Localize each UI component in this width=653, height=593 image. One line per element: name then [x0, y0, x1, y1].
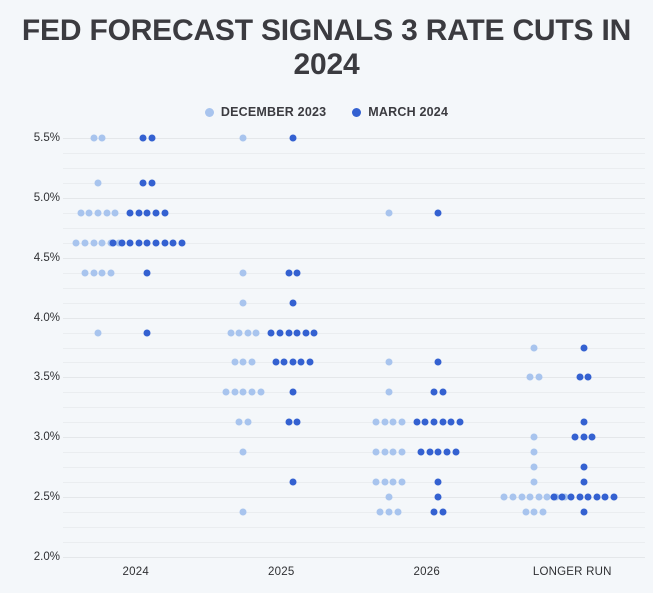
- x-axis-tick-label: 2024: [123, 566, 149, 578]
- data-point-dot: [390, 479, 397, 486]
- data-point-dot: [501, 494, 508, 501]
- x-axis-tick-label: LONGER RUN: [533, 566, 612, 578]
- y-axis-tick-label: 2.5%: [8, 491, 60, 503]
- data-point-dot: [236, 419, 243, 426]
- gridline-minor: [63, 303, 645, 304]
- data-point-dot: [509, 494, 516, 501]
- data-point-dot: [585, 494, 592, 501]
- data-point-dot: [140, 179, 147, 186]
- data-point-dot: [307, 359, 314, 366]
- gridline-major: [63, 198, 645, 199]
- data-point-dot: [580, 464, 587, 471]
- data-point-dot: [90, 135, 97, 142]
- gridline-major: [63, 318, 645, 319]
- data-point-dot: [152, 209, 159, 216]
- data-point-dot: [223, 389, 230, 396]
- data-point-dot: [435, 359, 442, 366]
- data-point-dot: [236, 329, 243, 336]
- y-axis-tick-label: 4.0%: [8, 312, 60, 324]
- data-point-dot: [144, 269, 151, 276]
- data-point-dot: [144, 239, 151, 246]
- gridline-minor: [63, 168, 645, 169]
- data-point-dot: [535, 494, 542, 501]
- data-point-dot: [240, 509, 247, 516]
- data-point-dot: [456, 419, 463, 426]
- data-point-dot: [381, 419, 388, 426]
- data-point-dot: [522, 509, 529, 516]
- data-point-dot: [240, 135, 247, 142]
- data-point-dot: [289, 135, 296, 142]
- data-point-dot: [398, 419, 405, 426]
- data-point-dot: [161, 209, 168, 216]
- data-point-dot: [140, 135, 147, 142]
- data-point-dot: [531, 344, 538, 351]
- data-point-dot: [422, 419, 429, 426]
- data-point-dot: [285, 419, 292, 426]
- data-point-dot: [107, 269, 114, 276]
- data-point-dot: [86, 209, 93, 216]
- data-point-dot: [82, 269, 89, 276]
- data-point-dot: [294, 329, 301, 336]
- data-point-dot: [418, 449, 425, 456]
- data-point-dot: [148, 135, 155, 142]
- data-point-dot: [448, 419, 455, 426]
- data-point-dot: [289, 389, 296, 396]
- gridline-minor: [63, 392, 645, 393]
- data-point-dot: [527, 494, 534, 501]
- data-point-dot: [439, 419, 446, 426]
- gridline-minor: [63, 407, 645, 408]
- data-point-dot: [377, 509, 384, 516]
- y-axis-tick-label: 3.5%: [8, 371, 60, 383]
- gridline-major: [63, 557, 645, 558]
- data-point-dot: [227, 329, 234, 336]
- data-point-dot: [580, 344, 587, 351]
- data-point-dot: [257, 389, 264, 396]
- gridline-minor: [63, 542, 645, 543]
- plot-wrapper: 5.5%5.0%4.5%4.0%3.5%3.0%2.5%2.0% 2024202…: [0, 0, 653, 593]
- data-point-dot: [298, 359, 305, 366]
- y-axis-tick-label: 4.5%: [8, 252, 60, 264]
- data-point-dot: [144, 329, 151, 336]
- data-point-dot: [518, 494, 525, 501]
- gridline-minor: [63, 288, 645, 289]
- data-point-dot: [580, 509, 587, 516]
- gridline-minor: [63, 348, 645, 349]
- data-point-dot: [385, 209, 392, 216]
- data-point-dot: [109, 239, 116, 246]
- data-point-dot: [240, 389, 247, 396]
- data-point-dot: [531, 449, 538, 456]
- data-point-dot: [249, 389, 256, 396]
- data-point-dot: [390, 449, 397, 456]
- data-point-dot: [610, 494, 617, 501]
- data-point-dot: [118, 239, 125, 246]
- gridline-minor: [63, 228, 645, 229]
- data-point-dot: [148, 179, 155, 186]
- data-point-dot: [99, 135, 106, 142]
- data-point-dot: [240, 359, 247, 366]
- data-point-dot: [431, 419, 438, 426]
- data-point-dot: [135, 209, 142, 216]
- data-point-dot: [452, 449, 459, 456]
- data-point-dot: [435, 494, 442, 501]
- data-point-dot: [398, 479, 405, 486]
- data-point-dot: [572, 434, 579, 441]
- gridline-major: [63, 258, 645, 259]
- data-point-dot: [240, 449, 247, 456]
- data-point-dot: [161, 239, 168, 246]
- data-point-dot: [289, 359, 296, 366]
- data-point-dot: [585, 374, 592, 381]
- data-point-dot: [99, 269, 106, 276]
- data-point-dot: [431, 509, 438, 516]
- data-point-dot: [576, 494, 583, 501]
- data-point-dot: [103, 209, 110, 216]
- data-point-dot: [435, 449, 442, 456]
- data-point-dot: [285, 329, 292, 336]
- data-point-dot: [381, 479, 388, 486]
- data-point-dot: [77, 209, 84, 216]
- gridline-minor: [63, 467, 645, 468]
- data-point-dot: [127, 209, 134, 216]
- data-point-dot: [531, 464, 538, 471]
- data-point-dot: [435, 479, 442, 486]
- data-point-dot: [580, 479, 587, 486]
- data-point-dot: [580, 419, 587, 426]
- data-point-dot: [94, 329, 101, 336]
- data-point-dot: [540, 509, 547, 516]
- data-point-dot: [152, 239, 159, 246]
- data-point-dot: [253, 329, 260, 336]
- data-point-dot: [285, 269, 292, 276]
- data-point-dot: [127, 239, 134, 246]
- data-point-dot: [311, 329, 318, 336]
- y-axis-tick-label: 5.5%: [8, 132, 60, 144]
- data-point-dot: [385, 389, 392, 396]
- data-point-dot: [268, 329, 275, 336]
- data-point-dot: [373, 449, 380, 456]
- y-axis-tick-label: 5.0%: [8, 192, 60, 204]
- data-point-dot: [535, 374, 542, 381]
- data-point-dot: [580, 434, 587, 441]
- data-point-dot: [398, 449, 405, 456]
- data-point-dot: [390, 419, 397, 426]
- data-point-dot: [170, 239, 177, 246]
- data-point-dot: [294, 419, 301, 426]
- data-point-dot: [531, 434, 538, 441]
- data-point-dot: [112, 209, 119, 216]
- gridline-major: [63, 437, 645, 438]
- data-point-dot: [381, 449, 388, 456]
- data-point-dot: [73, 239, 80, 246]
- data-point-dot: [559, 494, 566, 501]
- data-point-dot: [426, 449, 433, 456]
- data-point-dot: [373, 479, 380, 486]
- data-point-dot: [178, 239, 185, 246]
- data-point-dot: [99, 239, 106, 246]
- data-point-dot: [527, 374, 534, 381]
- data-point-dot: [244, 419, 251, 426]
- data-point-dot: [135, 239, 142, 246]
- data-point-dot: [435, 209, 442, 216]
- data-point-dot: [439, 389, 446, 396]
- data-point-dot: [272, 359, 279, 366]
- data-point-dot: [231, 389, 238, 396]
- plot-area: [63, 138, 645, 557]
- x-axis-tick-label: 2025: [268, 566, 294, 578]
- data-point-dot: [531, 509, 538, 516]
- data-point-dot: [289, 299, 296, 306]
- data-point-dot: [394, 509, 401, 516]
- data-point-dot: [443, 449, 450, 456]
- data-point-dot: [94, 179, 101, 186]
- gridline-minor: [63, 452, 645, 453]
- data-point-dot: [144, 209, 151, 216]
- data-point-dot: [82, 239, 89, 246]
- y-axis-tick-label: 3.0%: [8, 431, 60, 443]
- data-point-dot: [602, 494, 609, 501]
- data-point-dot: [276, 329, 283, 336]
- data-point-dot: [289, 479, 296, 486]
- y-axis: 5.5%5.0%4.5%4.0%3.5%3.0%2.5%2.0%: [0, 138, 60, 557]
- gridline-minor: [63, 362, 645, 363]
- data-point-dot: [373, 419, 380, 426]
- gridline-minor: [63, 482, 645, 483]
- data-point-dot: [281, 359, 288, 366]
- data-point-dot: [385, 359, 392, 366]
- data-point-dot: [431, 389, 438, 396]
- data-point-dot: [567, 494, 574, 501]
- gridline-minor: [63, 527, 645, 528]
- data-point-dot: [90, 269, 97, 276]
- data-point-dot: [240, 269, 247, 276]
- data-point-dot: [240, 299, 247, 306]
- data-point-dot: [94, 209, 101, 216]
- data-point-dot: [90, 239, 97, 246]
- x-axis: 202420252026LONGER RUN: [63, 566, 645, 586]
- gridline-minor: [63, 153, 645, 154]
- data-point-dot: [531, 479, 538, 486]
- data-point-dot: [576, 374, 583, 381]
- data-point-dot: [439, 509, 446, 516]
- data-point-dot: [589, 434, 596, 441]
- data-point-dot: [385, 494, 392, 501]
- data-point-dot: [385, 509, 392, 516]
- x-axis-tick-label: 2026: [414, 566, 440, 578]
- chart-page: FED FORECAST SIGNALS 3 RATE CUTS IN 2024…: [0, 0, 653, 593]
- data-point-dot: [249, 359, 256, 366]
- y-axis-tick-label: 2.0%: [8, 551, 60, 563]
- data-point-dot: [302, 329, 309, 336]
- data-point-dot: [244, 329, 251, 336]
- gridline-major: [63, 377, 645, 378]
- data-point-dot: [294, 269, 301, 276]
- gridline-minor: [63, 422, 645, 423]
- gridline-minor: [63, 512, 645, 513]
- data-point-dot: [231, 359, 238, 366]
- data-point-dot: [413, 419, 420, 426]
- data-point-dot: [593, 494, 600, 501]
- data-point-dot: [550, 494, 557, 501]
